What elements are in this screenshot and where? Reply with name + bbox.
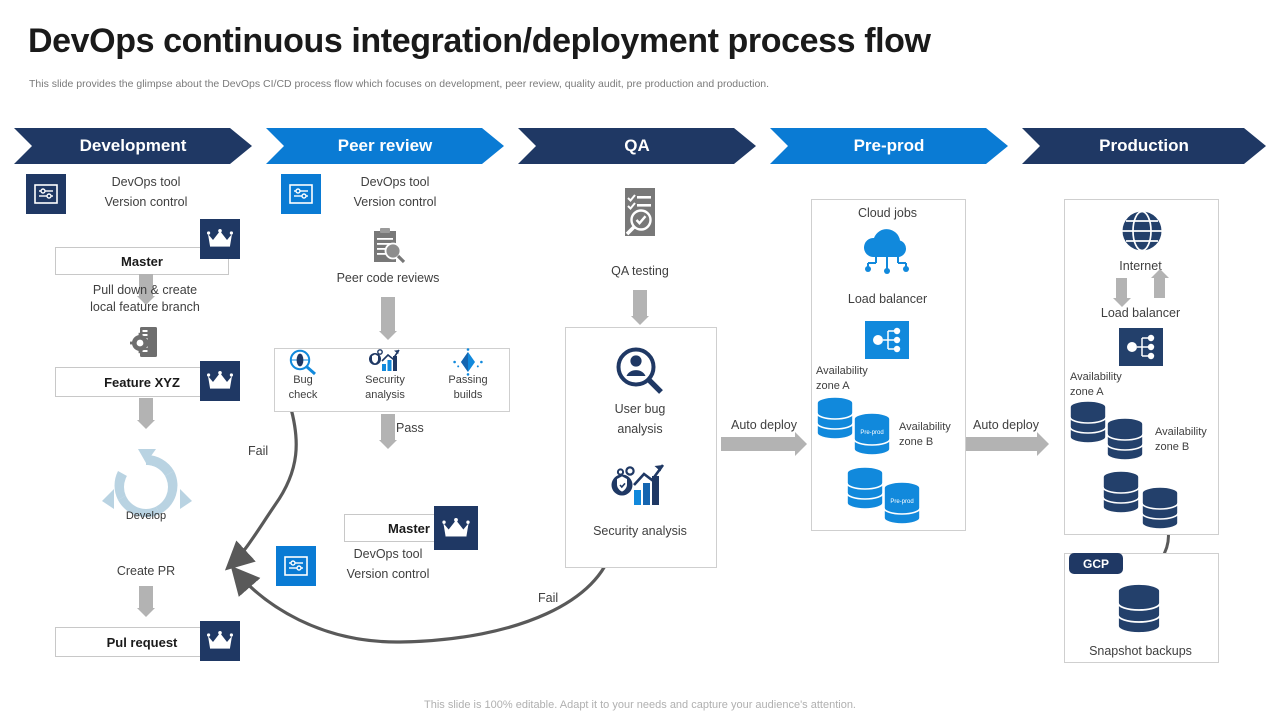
db-tag-text: Pre-prod: [860, 430, 883, 436]
database-cylinder-prod-b1: [1101, 470, 1141, 514]
gcp-badge: GCP: [1069, 553, 1123, 574]
auto-deploy-label-preprod: Auto deploy: [716, 417, 812, 433]
qa-testing-icon: [616, 186, 664, 246]
page-title: DevOps continuous integration/deployment…: [28, 22, 931, 61]
auto-deploy-arrow-preprod: [721, 437, 795, 451]
zone-b-label-line2-preprod: zone B: [899, 435, 977, 449]
crown-badge-feature: [200, 361, 240, 401]
security-analysis-label-qa: Security analysis: [565, 523, 715, 539]
gcp-badge-label: GCP: [1083, 557, 1109, 571]
arrow-lb-to-internet: [1154, 278, 1165, 298]
master-branch-label: Master: [121, 254, 163, 269]
page-subtitle: This slide provides the glimpse about th…: [29, 78, 769, 90]
pull-text-line2: local feature branch: [60, 299, 230, 315]
zone-b-label-line2-production: zone B: [1155, 440, 1233, 454]
dev-tool-label-line1: DevOps tool: [76, 174, 216, 190]
passing-builds-label-line2: builds: [438, 388, 498, 402]
bug-check-label-line1: Bug: [276, 373, 330, 387]
database-cylinder-snapshot: [1115, 583, 1163, 635]
database-cylinder-preprod-a2: Pre-prod: [852, 412, 892, 456]
arrow-pass: [381, 414, 395, 440]
local-machine-gear-icon: [128, 324, 164, 360]
load-balancer-label-preprod: Load balancer: [811, 291, 964, 307]
stage-banner-peer-review[interactable]: Peer review: [266, 128, 504, 164]
database-cylinder-preprod-a1: [815, 396, 855, 440]
dev-tool-label-line2: Version control: [76, 194, 216, 210]
create-pr-label: Create PR: [90, 563, 202, 579]
fail-label-qa: Fail: [538, 590, 588, 606]
zone-a-label-line1-production: Availability: [1070, 370, 1148, 384]
crown-badge-pullrequest: [200, 621, 240, 661]
devops-tool-icon-peer-2: [276, 546, 316, 586]
devops-tool-icon-peer: [281, 174, 321, 214]
stage-banner-preprod[interactable]: Pre-prod: [770, 128, 1008, 164]
user-bug-label-line1: User bug: [570, 401, 710, 417]
stage-banner-label: QA: [624, 136, 650, 156]
load-balancer-icon-production: [1119, 328, 1163, 366]
passing-builds-label-line1: Passing: [438, 373, 498, 387]
db-tag-text: Pre-prod: [890, 499, 913, 505]
load-balancer-icon-preprod: [865, 321, 909, 359]
security-analysis-label-line1: Security: [352, 373, 418, 387]
internet-label: Internet: [1064, 258, 1217, 274]
peer-code-review-icon: [369, 226, 407, 266]
arrow-peerreview-to-checks: [381, 297, 395, 331]
stage-banner-label: Development: [80, 136, 187, 156]
develop-cycle-icon: [94, 435, 198, 539]
peer-tool2-label-line1: DevOps tool: [325, 546, 451, 562]
passing-builds-icon: [453, 349, 483, 375]
pull-text-line1: Pull down & create: [60, 282, 230, 298]
user-bug-label-line2: analysis: [570, 421, 710, 437]
peer-tool-label-line2: Version control: [330, 194, 460, 210]
user-bug-analysis-icon: [614, 345, 666, 397]
crown-badge-master-peer: [434, 506, 478, 550]
peer-tool2-label-line2: Version control: [325, 566, 451, 582]
database-cylinder-preprod-b1: [845, 466, 885, 510]
stage-banner-label: Peer review: [338, 136, 433, 156]
security-analysis-label-line2: analysis: [352, 388, 418, 402]
cloud-jobs-icon: [858, 228, 916, 276]
internet-globe-icon: [1120, 209, 1164, 253]
arrow-feature-to-develop: [139, 398, 153, 420]
stage-banner-label: Pre-prod: [854, 136, 925, 156]
fail-label-peer: Fail: [248, 443, 296, 459]
bug-check-label-line2: check: [276, 388, 330, 402]
stage-banner-label: Production: [1099, 136, 1189, 156]
master-branch-label: Master: [388, 521, 430, 536]
database-cylinder-prod-a1: [1068, 400, 1108, 444]
zone-a-label-line2-production: zone A: [1070, 385, 1148, 399]
database-cylinder-preprod-b2: Pre-prod: [882, 481, 922, 525]
peer-tool-label-line1: DevOps tool: [330, 174, 460, 190]
qa-testing-label: QA testing: [570, 263, 710, 279]
stage-banner-development[interactable]: Development: [14, 128, 252, 164]
security-analysis-icon-qa: [610, 462, 668, 510]
peer-code-reviews-label: Peer code reviews: [300, 270, 476, 286]
load-balancer-label-production: Load balancer: [1064, 305, 1217, 321]
stage-banner-production[interactable]: Production: [1022, 128, 1266, 164]
devops-tool-icon: [26, 174, 66, 214]
feature-branch-label: Feature XYZ: [104, 375, 180, 390]
database-cylinder-prod-b2: [1140, 486, 1180, 530]
zone-a-label-line2-preprod: zone A: [816, 379, 894, 393]
zone-a-label-line1-preprod: Availability: [816, 364, 894, 378]
develop-cycle-label: Develop: [110, 509, 182, 523]
zone-b-label-line1-production: Availability: [1155, 425, 1233, 439]
pull-request-label: Pul request: [107, 635, 178, 650]
database-cylinder-prod-a2: [1105, 417, 1145, 461]
cloud-jobs-label: Cloud jobs: [811, 205, 964, 221]
arrow-qatesting-to-box: [633, 290, 647, 316]
bug-check-icon: [288, 349, 318, 375]
security-analysis-icon-peer: [369, 349, 401, 375]
crown-badge-master-dev: [200, 219, 240, 259]
snapshot-backups-label: Snapshot backups: [1064, 643, 1217, 659]
arrow-createpr-to-pullrequest: [139, 586, 153, 608]
pass-label: Pass: [396, 420, 444, 436]
zone-b-label-line1-preprod: Availability: [899, 420, 977, 434]
stage-banner-qa[interactable]: QA: [518, 128, 756, 164]
arrow-internet-to-lb: [1116, 278, 1127, 298]
footer-note: This slide is 100% editable. Adapt it to…: [0, 699, 1280, 711]
